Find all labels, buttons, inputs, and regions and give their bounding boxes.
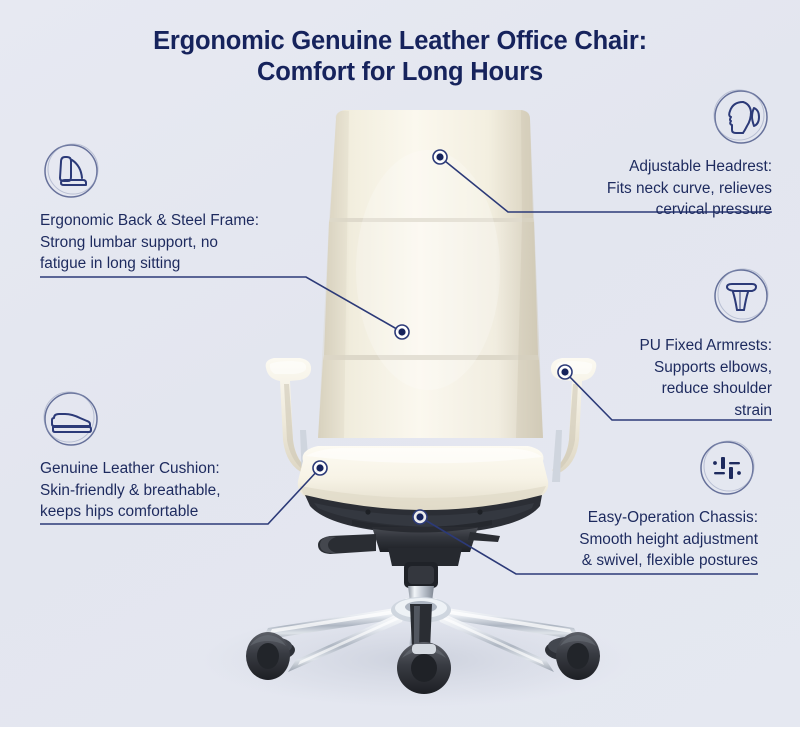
head-profile-icon [710, 86, 772, 148]
callout-line: fatigue in long sitting [40, 253, 259, 275]
callout-line: Fits neck curve, relieves [607, 178, 772, 200]
callout-line: Easy-Operation Chassis: [579, 507, 758, 529]
hotspot-pu-fixed-armrests [558, 365, 573, 380]
slider-control-icon [696, 437, 758, 499]
chair-back-icon [40, 140, 102, 202]
title-line-2: Comfort for Long Hours [0, 57, 800, 88]
callout-pu-fixed-armrests[interactable]: PU Fixed Armrests: Supports elbows, redu… [639, 265, 772, 421]
hotspot-dots [313, 150, 573, 525]
callout-easy-operation-chassis-text: Easy-Operation Chassis: Smooth height ad… [579, 507, 758, 572]
title-line-1: Ergonomic Genuine Leather Office Chair: [0, 26, 800, 57]
callout-line: Ergonomic Back & Steel Frame: [40, 210, 259, 232]
hotspot-easy-operation-chassis [413, 510, 428, 525]
callout-line: & swivel, flexible postures [579, 550, 758, 572]
callout-line: strain [639, 400, 772, 422]
callout-easy-operation-chassis[interactable]: Easy-Operation Chassis: Smooth height ad… [579, 437, 758, 572]
cushion-icon [40, 388, 102, 450]
callout-line: Genuine Leather Cushion: [40, 458, 221, 480]
hotspot-adjustable-headrest [433, 150, 448, 165]
callout-adjustable-headrest[interactable]: Adjustable Headrest: Fits neck curve, re… [607, 86, 772, 221]
callout-genuine-leather-cushion[interactable]: Genuine Leather Cushion: Skin-friendly &… [40, 388, 221, 523]
callout-adjustable-headrest-text: Adjustable Headrest: Fits neck curve, re… [607, 156, 772, 221]
page-title: Ergonomic Genuine Leather Office Chair: … [0, 26, 800, 88]
callout-ergonomic-back[interactable]: Ergonomic Back & Steel Frame: Strong lum… [40, 140, 259, 275]
callout-line: keeps hips comfortable [40, 501, 221, 523]
bottom-white-strip [0, 727, 800, 741]
infographic-canvas: Ergonomic Genuine Leather Office Chair: … [0, 0, 800, 727]
armrest-icon [710, 265, 772, 327]
hotspot-genuine-leather-cushion [313, 461, 328, 476]
callout-genuine-leather-cushion-text: Genuine Leather Cushion: Skin-friendly &… [40, 458, 221, 523]
callout-line: reduce shoulder [639, 378, 772, 400]
callout-ergonomic-back-text: Ergonomic Back & Steel Frame: Strong lum… [40, 210, 259, 275]
callout-line: cervical pressure [607, 199, 772, 221]
callout-line: PU Fixed Armrests: [639, 335, 772, 357]
callout-line: Smooth height adjustment [579, 529, 758, 551]
hotspot-ergonomic-back [395, 325, 410, 340]
leader-line-ergonomic-back [40, 277, 402, 332]
callout-line: Strong lumbar support, no [40, 232, 259, 254]
callout-pu-fixed-armrests-text: PU Fixed Armrests: Supports elbows, redu… [639, 335, 772, 421]
callout-line: Skin-friendly & breathable, [40, 480, 221, 502]
callout-line: Supports elbows, [639, 357, 772, 379]
product-feature-infographic: Ergonomic Genuine Leather Office Chair: … [0, 0, 800, 741]
callout-line: Adjustable Headrest: [607, 156, 772, 178]
